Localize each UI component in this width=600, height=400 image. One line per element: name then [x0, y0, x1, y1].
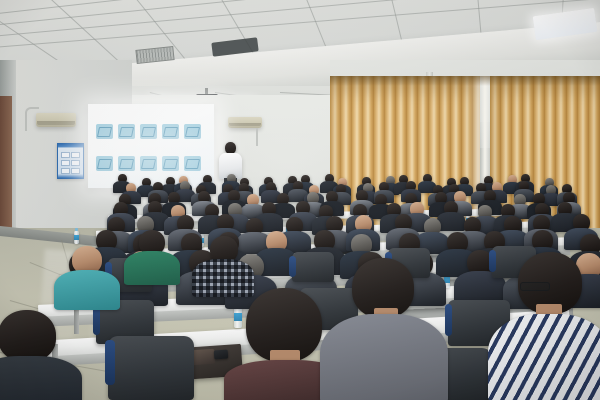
slide-figure-row-2: [94, 156, 208, 176]
air-conditioner-right: [228, 117, 262, 128]
person-green-shirt: [126, 230, 178, 282]
person-teal-shirt: [56, 246, 118, 308]
person-foreground-grey-sweater: [332, 258, 436, 400]
slide-figure-row-1: [94, 124, 208, 144]
classroom-photo: [0, 0, 600, 400]
striped-shirt: [488, 314, 600, 400]
projection-screen: [88, 104, 214, 188]
chair-foreground[interactable]: [108, 336, 194, 400]
door-frame: [0, 96, 12, 236]
eyeglasses: [520, 282, 550, 291]
poster-cells: [61, 152, 80, 174]
person-foreground-striped-polo: [502, 252, 600, 400]
smartphone[interactable]: [214, 350, 229, 360]
water-bottle[interactable]: [74, 231, 79, 244]
person-foreground-left: [0, 310, 74, 400]
ac-pipe-right: [256, 128, 258, 146]
ac-pipe-left: [25, 107, 39, 131]
person-checkered-shirt: [194, 236, 252, 294]
wall-notice-poster: [57, 143, 84, 179]
chair[interactable]: [292, 252, 334, 282]
air-conditioner-left: [36, 113, 76, 127]
curtain-rod-shadow: [330, 76, 600, 86]
